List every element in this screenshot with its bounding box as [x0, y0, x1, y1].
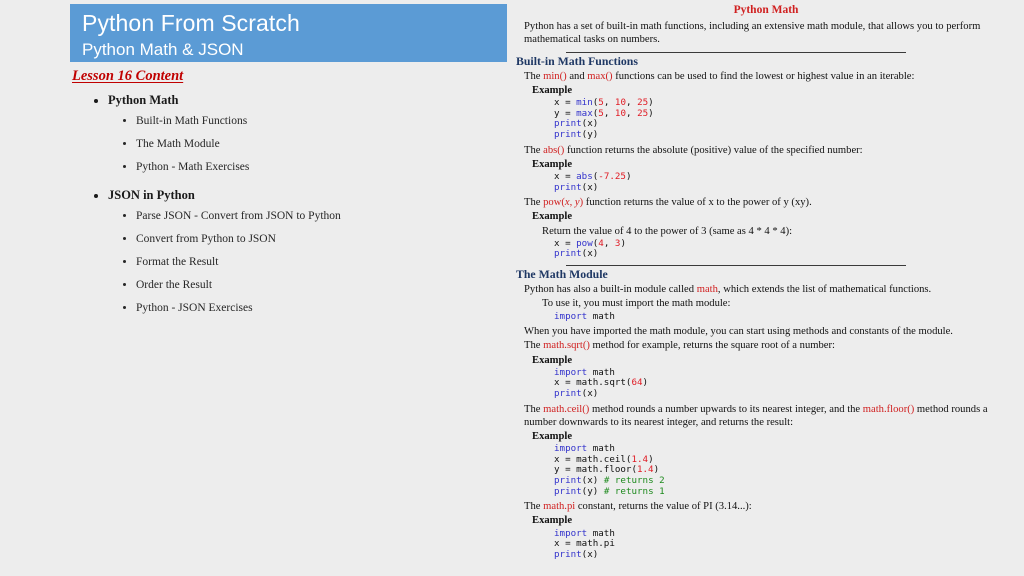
banner-title: Python From Scratch: [82, 8, 507, 38]
code-block-ceil-floor: import math x = math.ceil(1.4) y = math.…: [554, 444, 1016, 497]
inline-code-abs: abs(): [543, 145, 564, 156]
toc-group-python-math[interactable]: Python Math Built-in Math Functions The …: [108, 92, 500, 174]
inline-code-min: min(): [543, 71, 567, 82]
lesson-content-heading: Lesson 16 Content: [72, 68, 183, 85]
example-label: Example: [532, 354, 1016, 367]
title-banner: Python From Scratch Python Math & JSON: [70, 4, 507, 62]
paragraph-sqrt: The math.sqrt() method for example, retu…: [524, 339, 1016, 352]
code-block-pow: x = pow(4, 3) print(x): [554, 239, 1016, 260]
list-item[interactable]: Built-in Math Functions: [136, 114, 500, 128]
list-item[interactable]: The Math Module: [136, 137, 500, 151]
section-divider-2: [516, 265, 1016, 266]
paragraph-pow: The pow(x, y) function returns the value…: [524, 196, 1016, 209]
paragraph-import-note: To use it, you must import the math modu…: [542, 297, 1016, 310]
example-label: Example: [532, 210, 1016, 223]
code-block-math-pi: import math x = math.pi print(x): [554, 529, 1016, 561]
horizontal-rule: [566, 52, 906, 53]
toc-group-json-in-python[interactable]: JSON in Python Parse JSON - Convert from…: [108, 187, 500, 315]
code-block-abs: x = abs(-7.25) print(x): [554, 172, 1016, 193]
inline-code-math-ceil: math.ceil(): [543, 404, 589, 415]
paragraph-math-pi: The math.pi constant, returns the value …: [524, 500, 1016, 513]
paragraph-math-module: Python has also a built-in module called…: [524, 283, 1016, 296]
inline-code-max: max(): [587, 71, 612, 82]
example-label: Example: [532, 430, 1016, 443]
toc-item-label: Format the Result: [136, 256, 218, 268]
list-item[interactable]: Parse JSON - Convert from JSON to Python: [136, 209, 500, 223]
section-divider-1: [516, 52, 1016, 53]
code-block-sqrt: import math x = math.sqrt(64) print(x): [554, 368, 1016, 400]
toc-item-label: Python - Math Exercises: [136, 161, 249, 173]
list-item[interactable]: Order the Result: [136, 278, 500, 292]
list-item[interactable]: Python - JSON Exercises: [136, 301, 500, 315]
code-block-import-math: import math: [554, 312, 1016, 323]
list-item[interactable]: Format the Result: [136, 255, 500, 269]
section-heading-builtin-math-functions: Built-in Math Functions: [516, 55, 1016, 68]
code-block-min-max: x = min(5, 10, 25) y = max(5, 10, 25) pr…: [554, 98, 1016, 140]
horizontal-rule: [566, 265, 906, 266]
slide: Python From Scratch Python Math & JSON L…: [0, 0, 1024, 576]
toc-group-label: Python Math: [108, 93, 179, 107]
example-label: Example: [532, 514, 1016, 527]
paragraph-imported-module: When you have imported the math module, …: [524, 325, 1016, 338]
toc-item-label: The Math Module: [136, 138, 220, 150]
paragraph-abs: The abs() function returns the absolute …: [524, 144, 1016, 157]
toc-group-label: JSON in Python: [108, 188, 195, 202]
doc-intro-paragraph: Python has a set of built-in math functi…: [524, 20, 1016, 46]
doc-title: Python Math: [516, 4, 1016, 17]
toc-sublist: Built-in Math Functions The Math Module …: [108, 114, 500, 174]
list-item[interactable]: Python - Math Exercises: [136, 160, 500, 174]
inline-code-math-floor: math.floor(): [863, 404, 914, 415]
example-label: Example: [532, 158, 1016, 171]
toc-item-label: Python - JSON Exercises: [136, 302, 253, 314]
table-of-contents: Python Math Built-in Math Functions The …: [70, 92, 500, 324]
list-item[interactable]: Convert from Python to JSON: [136, 232, 500, 246]
inline-code-math-pi: math.pi: [543, 501, 575, 512]
toc-sublist: Parse JSON - Convert from JSON to Python…: [108, 209, 500, 315]
toc-item-label: Convert from Python to JSON: [136, 233, 276, 245]
paragraph-ceil-floor: The math.ceil() method rounds a number u…: [524, 403, 1016, 429]
toc-item-label: Order the Result: [136, 279, 212, 291]
left-panel: Python From Scratch Python Math & JSON L…: [70, 0, 508, 576]
tutorial-content-panel: Python Math Python has a set of built-in…: [516, 2, 1016, 576]
toc-list: Python Math Built-in Math Functions The …: [70, 92, 500, 315]
banner-subtitle: Python Math & JSON: [82, 38, 507, 61]
example-note-pow: Return the value of 4 to the power of 3 …: [542, 225, 1016, 238]
inline-code-math-sqrt: math.sqrt(): [543, 340, 590, 351]
inline-code-math: math: [697, 284, 718, 295]
paragraph-min-max: The min() and max() functions can be use…: [524, 70, 1016, 83]
example-label: Example: [532, 84, 1016, 97]
toc-item-label: Parse JSON - Convert from JSON to Python: [136, 210, 341, 222]
section-heading-the-math-module: The Math Module: [516, 268, 1016, 281]
toc-item-label: Built-in Math Functions: [136, 115, 247, 127]
inline-code-pow: pow(x, y): [543, 197, 583, 208]
